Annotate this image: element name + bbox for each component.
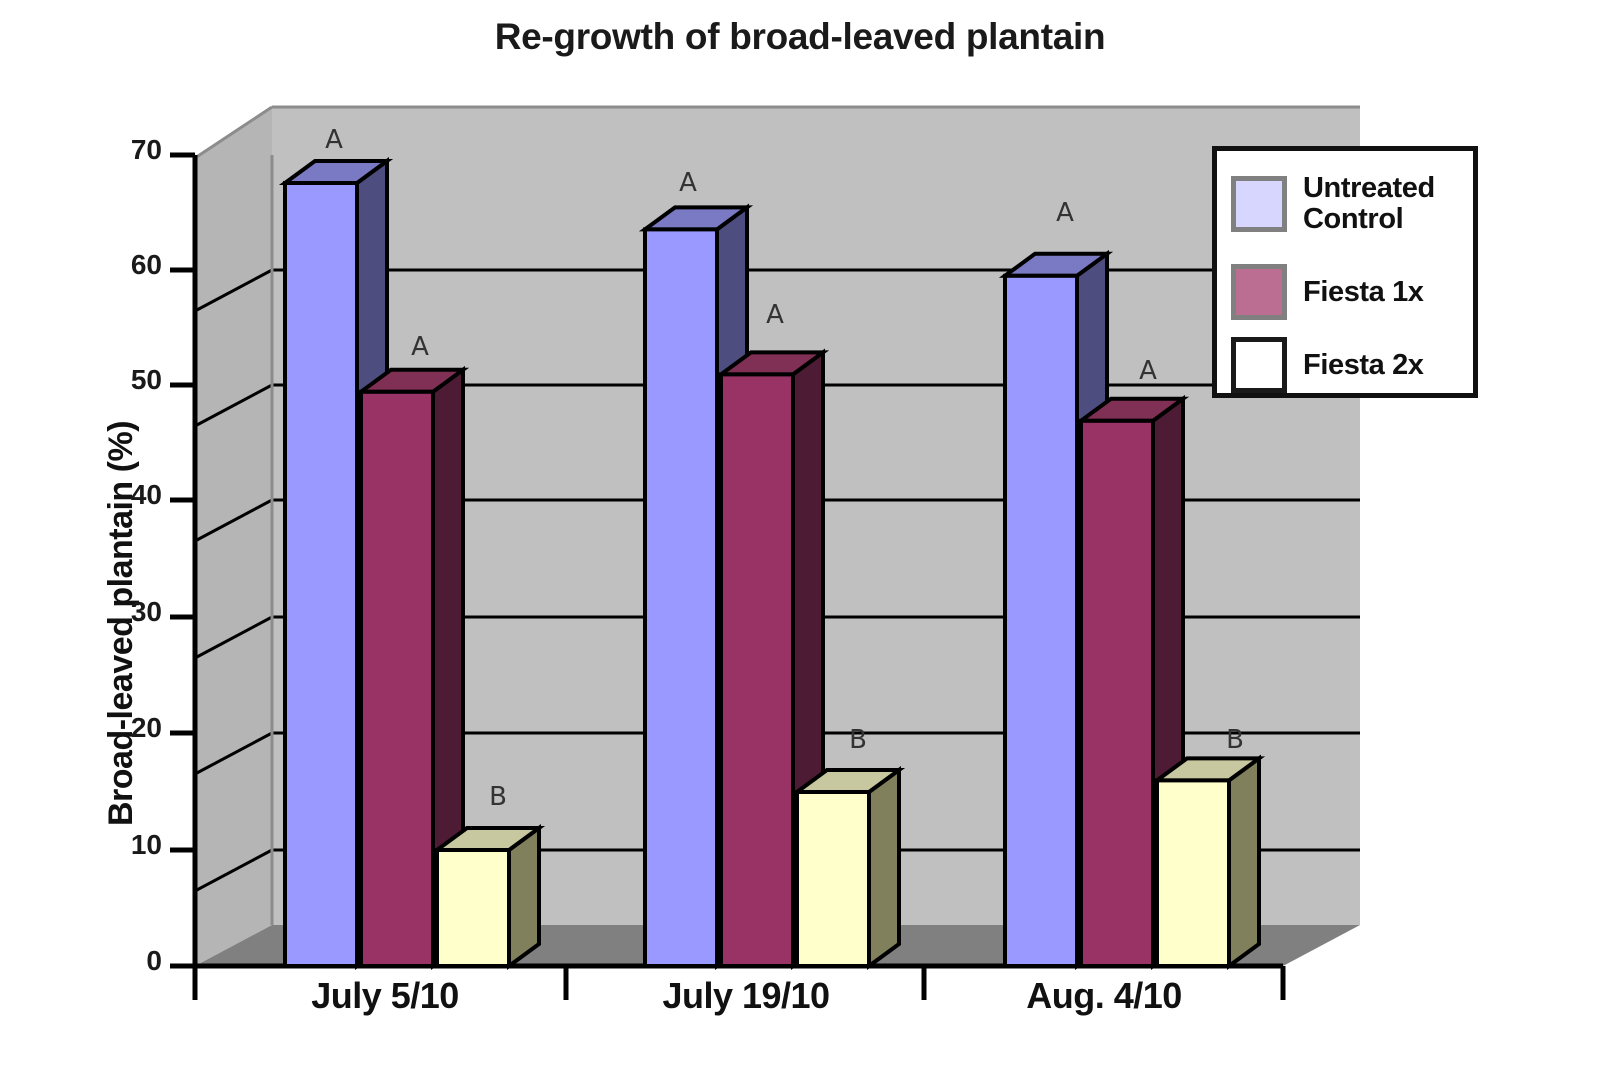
bar-front-face: [721, 374, 793, 966]
x-axis-label-july-5: July 5/10: [205, 975, 565, 1017]
bar-side-face: [1229, 758, 1259, 966]
sig-label-g1-s1: A: [314, 125, 354, 155]
sig-label-g1-s3: B: [478, 782, 518, 812]
sig-label-g3-s1: A: [1045, 198, 1085, 228]
y-axis: [170, 155, 195, 966]
bar-fiesta-2x-group-1: [437, 828, 539, 966]
legend-item-fiesta-1x[interactable]: Fiesta 1x: [1231, 264, 1424, 320]
bar-front-face: [437, 850, 509, 966]
y-tick-label-70: 70: [100, 134, 162, 166]
y-tick-label-40: 40: [100, 479, 162, 511]
x-axis-label-july-19: July 19/10: [568, 975, 924, 1017]
bar-fiesta-2x-group-2: [797, 770, 899, 966]
bar-fiesta-2x-group-3: [1157, 758, 1259, 966]
sig-label-g3-s3: B: [1215, 725, 1255, 755]
bar-front-face: [1005, 276, 1077, 966]
y-tick-label-0: 0: [100, 945, 162, 977]
sig-label-g2-s1: A: [668, 168, 708, 198]
x-axis-label-aug-4: Aug. 4/10: [926, 975, 1282, 1017]
legend-swatch-untreated-control: [1231, 176, 1287, 232]
legend-swatch-fiesta-1x: [1231, 264, 1287, 320]
bar-side-face: [869, 770, 899, 966]
y-tick-label-30: 30: [100, 596, 162, 628]
y-tick-label-10: 10: [100, 829, 162, 861]
sig-label-g1-s2: A: [400, 332, 440, 362]
bar-front-face: [797, 792, 869, 966]
legend-item-fiesta-2x[interactable]: Fiesta 2x: [1231, 337, 1424, 393]
y-tick-label-20: 20: [100, 712, 162, 744]
bar-front-face: [361, 392, 433, 966]
bar-front-face: [645, 229, 717, 966]
sig-label-g2-s2: A: [755, 300, 795, 330]
legend: Untreated Control Fiesta 1x Fiesta 2x: [1212, 146, 1478, 398]
legend-label-fiesta-2x: Fiesta 2x: [1303, 350, 1424, 381]
y-tick-label-50: 50: [100, 364, 162, 396]
bar-front-face: [1081, 421, 1153, 966]
sig-label-g2-s3: B: [838, 725, 878, 755]
legend-label-fiesta-1x: Fiesta 1x: [1303, 277, 1424, 308]
legend-swatch-fiesta-2x: [1231, 337, 1287, 393]
chart-root: Re-growth of broad-leaved plantain Broad…: [0, 0, 1600, 1067]
sig-label-g3-s2: A: [1128, 356, 1168, 386]
legend-label-untreated-control: Untreated Control: [1303, 173, 1473, 234]
legend-item-untreated-control[interactable]: Untreated Control: [1231, 173, 1473, 234]
y-tick-label-60: 60: [100, 249, 162, 281]
bar-front-face: [1157, 780, 1229, 966]
bar-front-face: [285, 183, 357, 966]
